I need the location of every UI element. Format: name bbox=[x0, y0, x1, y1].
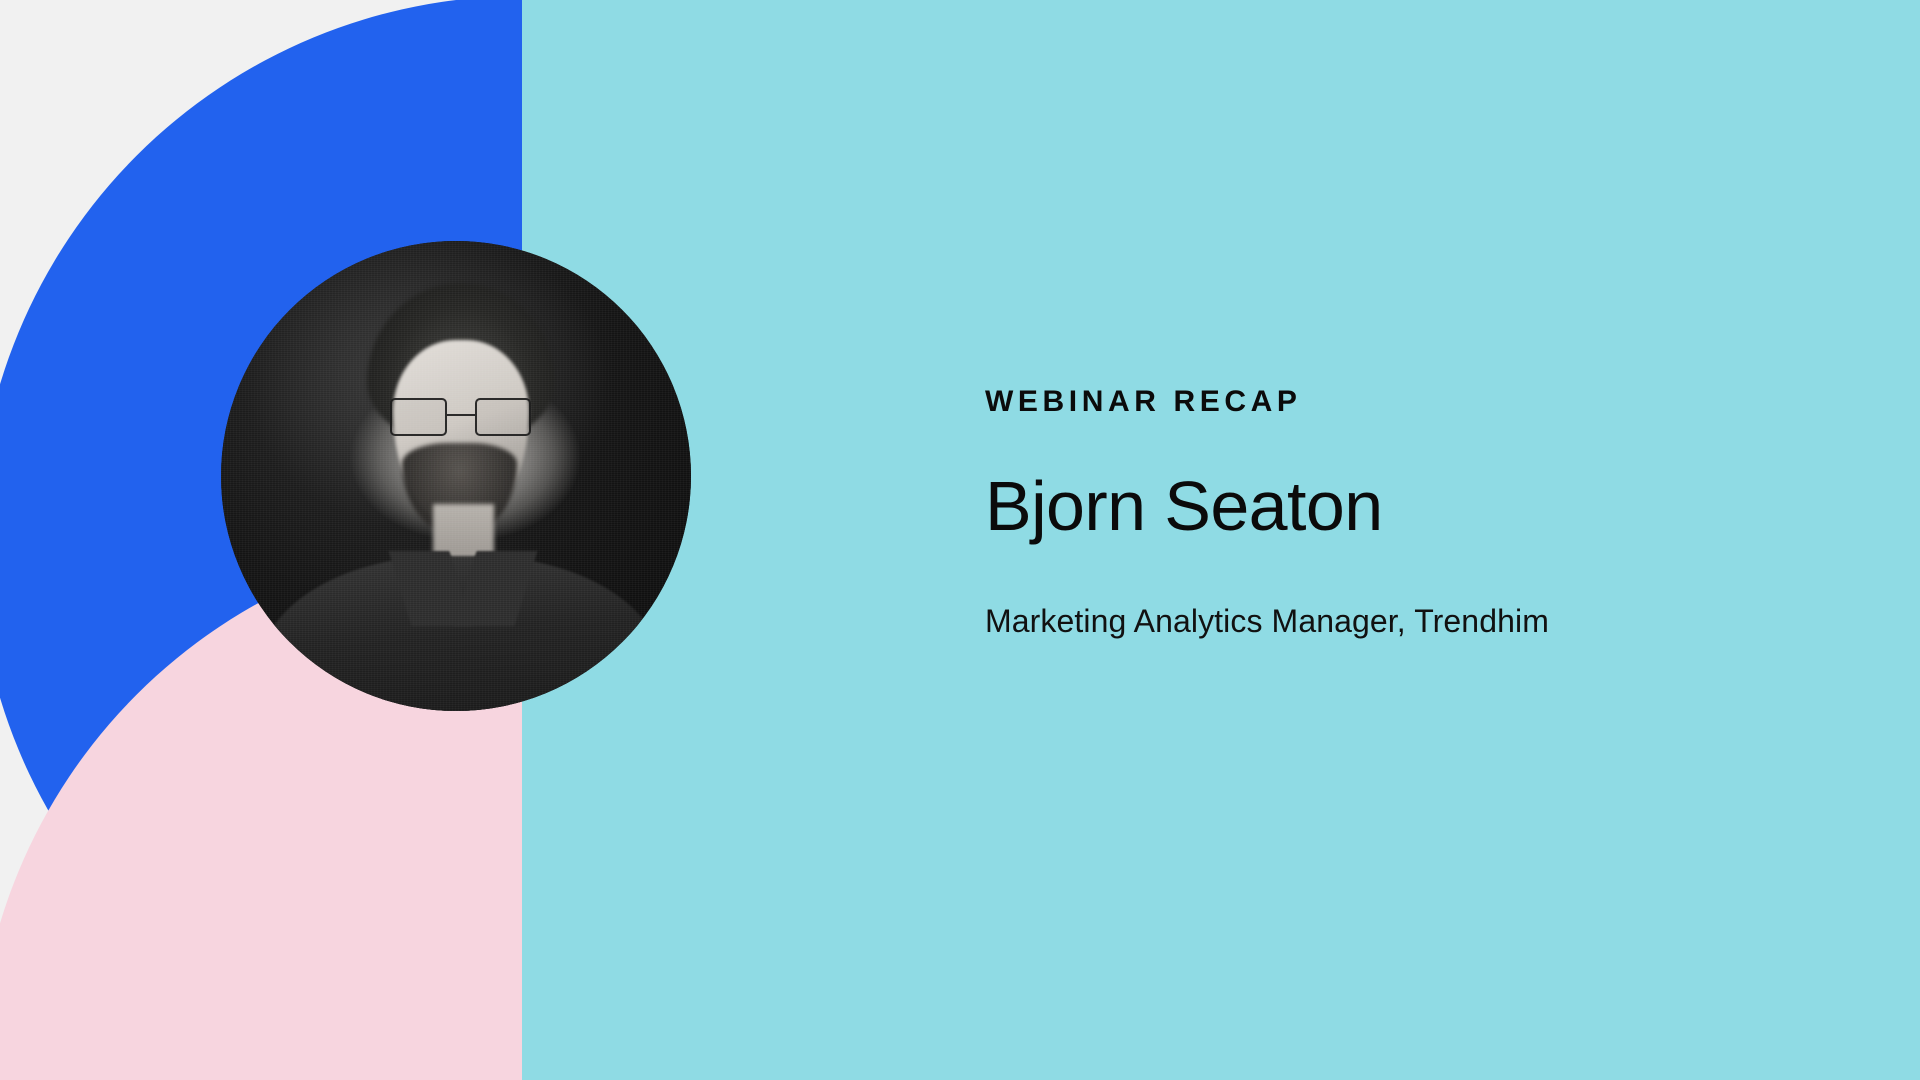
speaker-role: Marketing Analytics Manager, Trendhim bbox=[985, 602, 1549, 640]
speaker-portrait-avatar bbox=[221, 241, 691, 711]
glasses-icon bbox=[390, 398, 531, 436]
glasses-lens-right bbox=[475, 398, 531, 436]
speaker-text-block: WEBINAR RECAP Bjorn Seaton Marketing Ana… bbox=[985, 385, 1549, 640]
glasses-bridge bbox=[447, 414, 475, 416]
glasses-lens-left bbox=[390, 398, 446, 436]
webinar-recap-slide: WEBINAR RECAP Bjorn Seaton Marketing Ana… bbox=[0, 0, 1920, 1080]
eyebrow-label: WEBINAR RECAP bbox=[985, 385, 1549, 418]
speaker-name: Bjorn Seaton bbox=[985, 470, 1549, 544]
portrait-photo bbox=[221, 241, 691, 711]
portrait-grain-overlay bbox=[221, 241, 691, 711]
